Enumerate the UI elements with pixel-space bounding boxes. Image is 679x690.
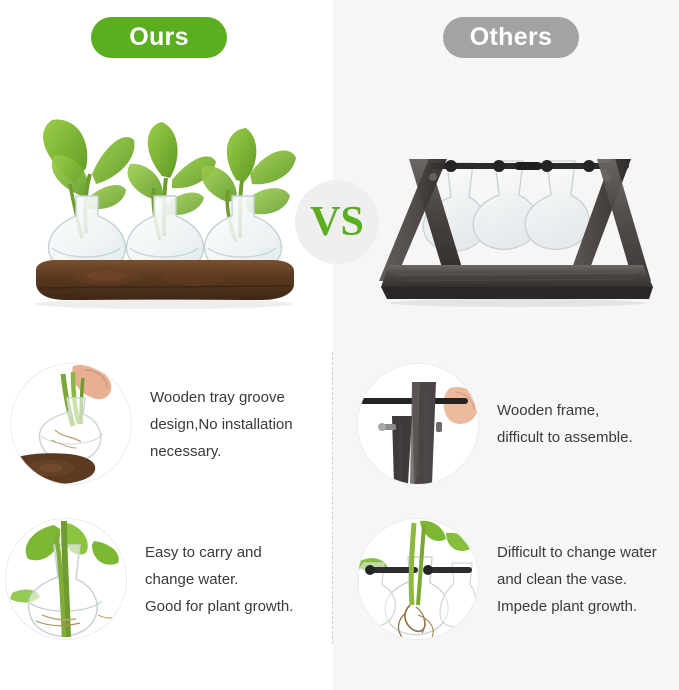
others-product-image bbox=[375, 135, 660, 315]
ours-feature-1-text: Wooden tray groove design,No installatio… bbox=[150, 384, 293, 465]
others-feature-2-text: Difficult to change water and clean the … bbox=[497, 539, 657, 620]
ours-feature-2: Easy to carry and change water. Good for… bbox=[5, 518, 293, 640]
others-feature-1-image bbox=[357, 363, 479, 485]
ours-feature-2-image bbox=[5, 518, 127, 640]
others-feature-1: Wooden frame, difficult to assemble. bbox=[357, 363, 633, 485]
ours-product-image bbox=[14, 88, 314, 313]
others-badge-label: Others bbox=[470, 23, 552, 52]
others-badge: Others bbox=[443, 17, 579, 58]
ours-badge-label: Ours bbox=[129, 23, 189, 52]
others-feature-2: Difficult to change water and clean the … bbox=[357, 518, 657, 640]
ours-feature-1-image bbox=[10, 363, 132, 485]
walnut-wooden-tray bbox=[36, 260, 294, 300]
ours-feature-2-text: Easy to carry and change water. Good for… bbox=[145, 539, 293, 620]
versus-label: VS bbox=[310, 201, 364, 243]
ours-feature-1: Wooden tray groove design,No installatio… bbox=[10, 363, 293, 485]
others-feature-1-text: Wooden frame, difficult to assemble. bbox=[497, 397, 633, 451]
versus-badge: VS bbox=[295, 180, 379, 264]
ours-badge: Ours bbox=[91, 17, 227, 58]
others-feature-2-image bbox=[357, 518, 479, 640]
comparison-infographic: Ours Others VS bbox=[0, 0, 679, 690]
column-divider bbox=[332, 352, 333, 644]
